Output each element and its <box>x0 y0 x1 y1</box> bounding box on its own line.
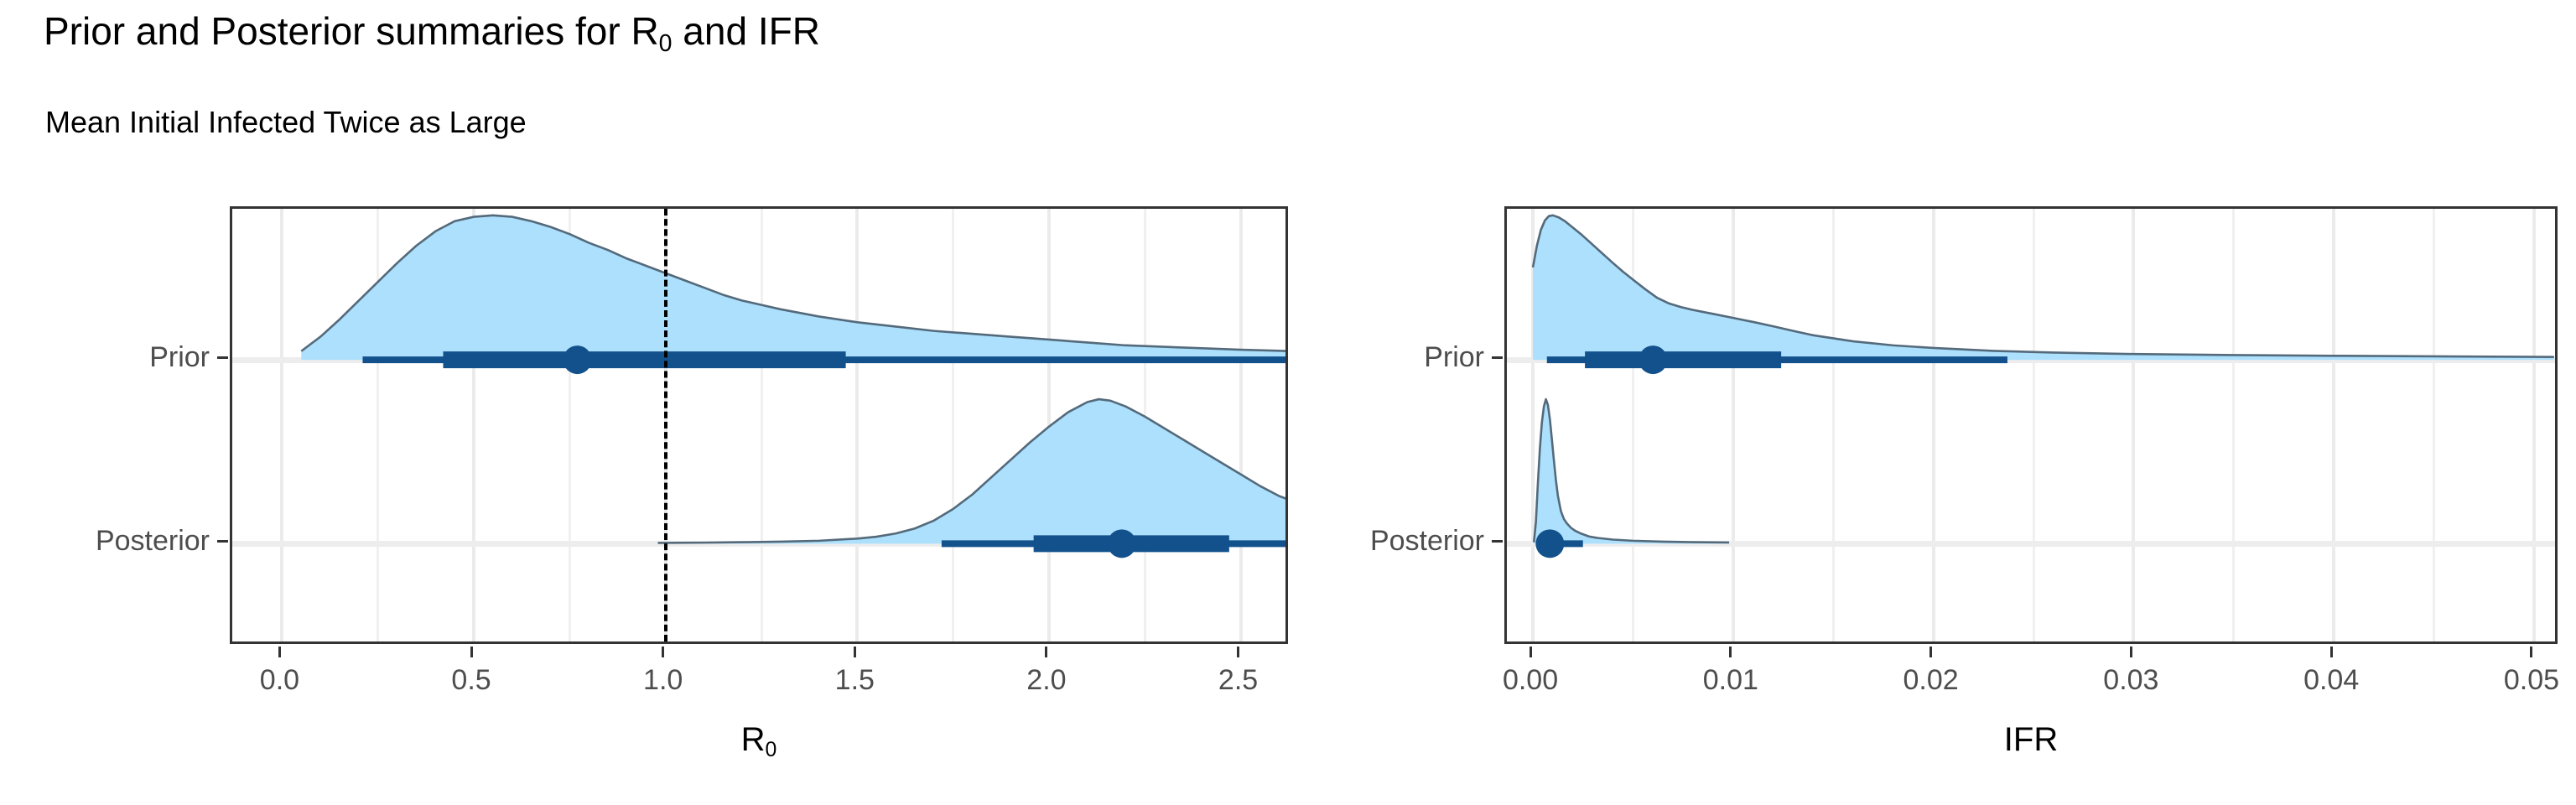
x-tick-label: 0.5 <box>451 666 491 694</box>
x-tick <box>1929 647 1932 657</box>
figure-subtitle: Mean Initial Infected Twice as Large <box>45 107 527 138</box>
x-tick-label: 2.5 <box>1218 666 1258 694</box>
y-tick-label-prior: Prior <box>149 343 210 371</box>
x-axis-title-ifr: IFR <box>2004 723 2058 756</box>
x-tick <box>1237 647 1239 657</box>
plot-panel-ifr <box>1504 206 2558 644</box>
y-tick-label-posterior: Posterior <box>1370 527 1484 555</box>
axis-title-text: R <box>741 721 766 758</box>
x-tick-label: 1.0 <box>643 666 683 694</box>
x-tick-label: 0.00 <box>1503 666 1558 694</box>
x-tick <box>854 647 856 657</box>
x-tick <box>2530 647 2532 657</box>
x-tick-label: 1.5 <box>835 666 875 694</box>
x-tick-label: 0.0 <box>260 666 299 694</box>
x-tick-label: 0.03 <box>2103 666 2158 694</box>
x-tick <box>2130 647 2132 657</box>
x-tick <box>470 647 473 657</box>
plot-panel-r0 <box>230 206 1288 644</box>
density-area-prior <box>1533 216 2554 360</box>
figure-root: Prior and Posterior summaries for R0 and… <box>0 0 2576 805</box>
x-tick <box>1729 647 1732 657</box>
x-tick <box>2330 647 2333 657</box>
point-estimate-prior <box>563 345 592 374</box>
density-area-prior <box>301 216 1285 360</box>
x-tick <box>1529 647 1532 657</box>
point-estimate-prior <box>1639 345 1667 374</box>
y-tick <box>1492 356 1503 359</box>
panel-inner <box>232 209 1285 641</box>
x-tick-label: 0.02 <box>1903 666 1959 694</box>
x-tick <box>278 647 281 657</box>
ridge-densities <box>232 209 1285 641</box>
y-tick <box>217 540 228 543</box>
x-tick-label: 0.04 <box>2303 666 2359 694</box>
axis-title-subscript: 0 <box>766 739 777 761</box>
y-tick <box>217 356 228 359</box>
point-estimate-posterior <box>1535 529 1564 558</box>
y-tick-label-prior: Prior <box>1424 343 1484 371</box>
x-tick <box>662 647 664 657</box>
x-tick-label: 0.01 <box>1703 666 1758 694</box>
point-estimate-posterior <box>1108 529 1136 558</box>
density-area-posterior <box>658 399 1285 543</box>
reference-line <box>664 209 667 641</box>
x-tick-label: 0.05 <box>2504 666 2559 694</box>
figure-title: Prior and Posterior summaries for R0 and… <box>44 12 820 56</box>
x-axis-title-r0: R0 <box>741 723 777 761</box>
x-tick <box>1045 647 1047 657</box>
y-tick <box>1492 540 1503 543</box>
title-subscript: 0 <box>659 30 673 57</box>
density-area-posterior <box>1534 399 1729 543</box>
panel-inner <box>1507 209 2555 641</box>
y-tick-label-posterior: Posterior <box>96 527 210 555</box>
ridge-densities <box>1507 209 2555 641</box>
x-tick-label: 2.0 <box>1026 666 1066 694</box>
